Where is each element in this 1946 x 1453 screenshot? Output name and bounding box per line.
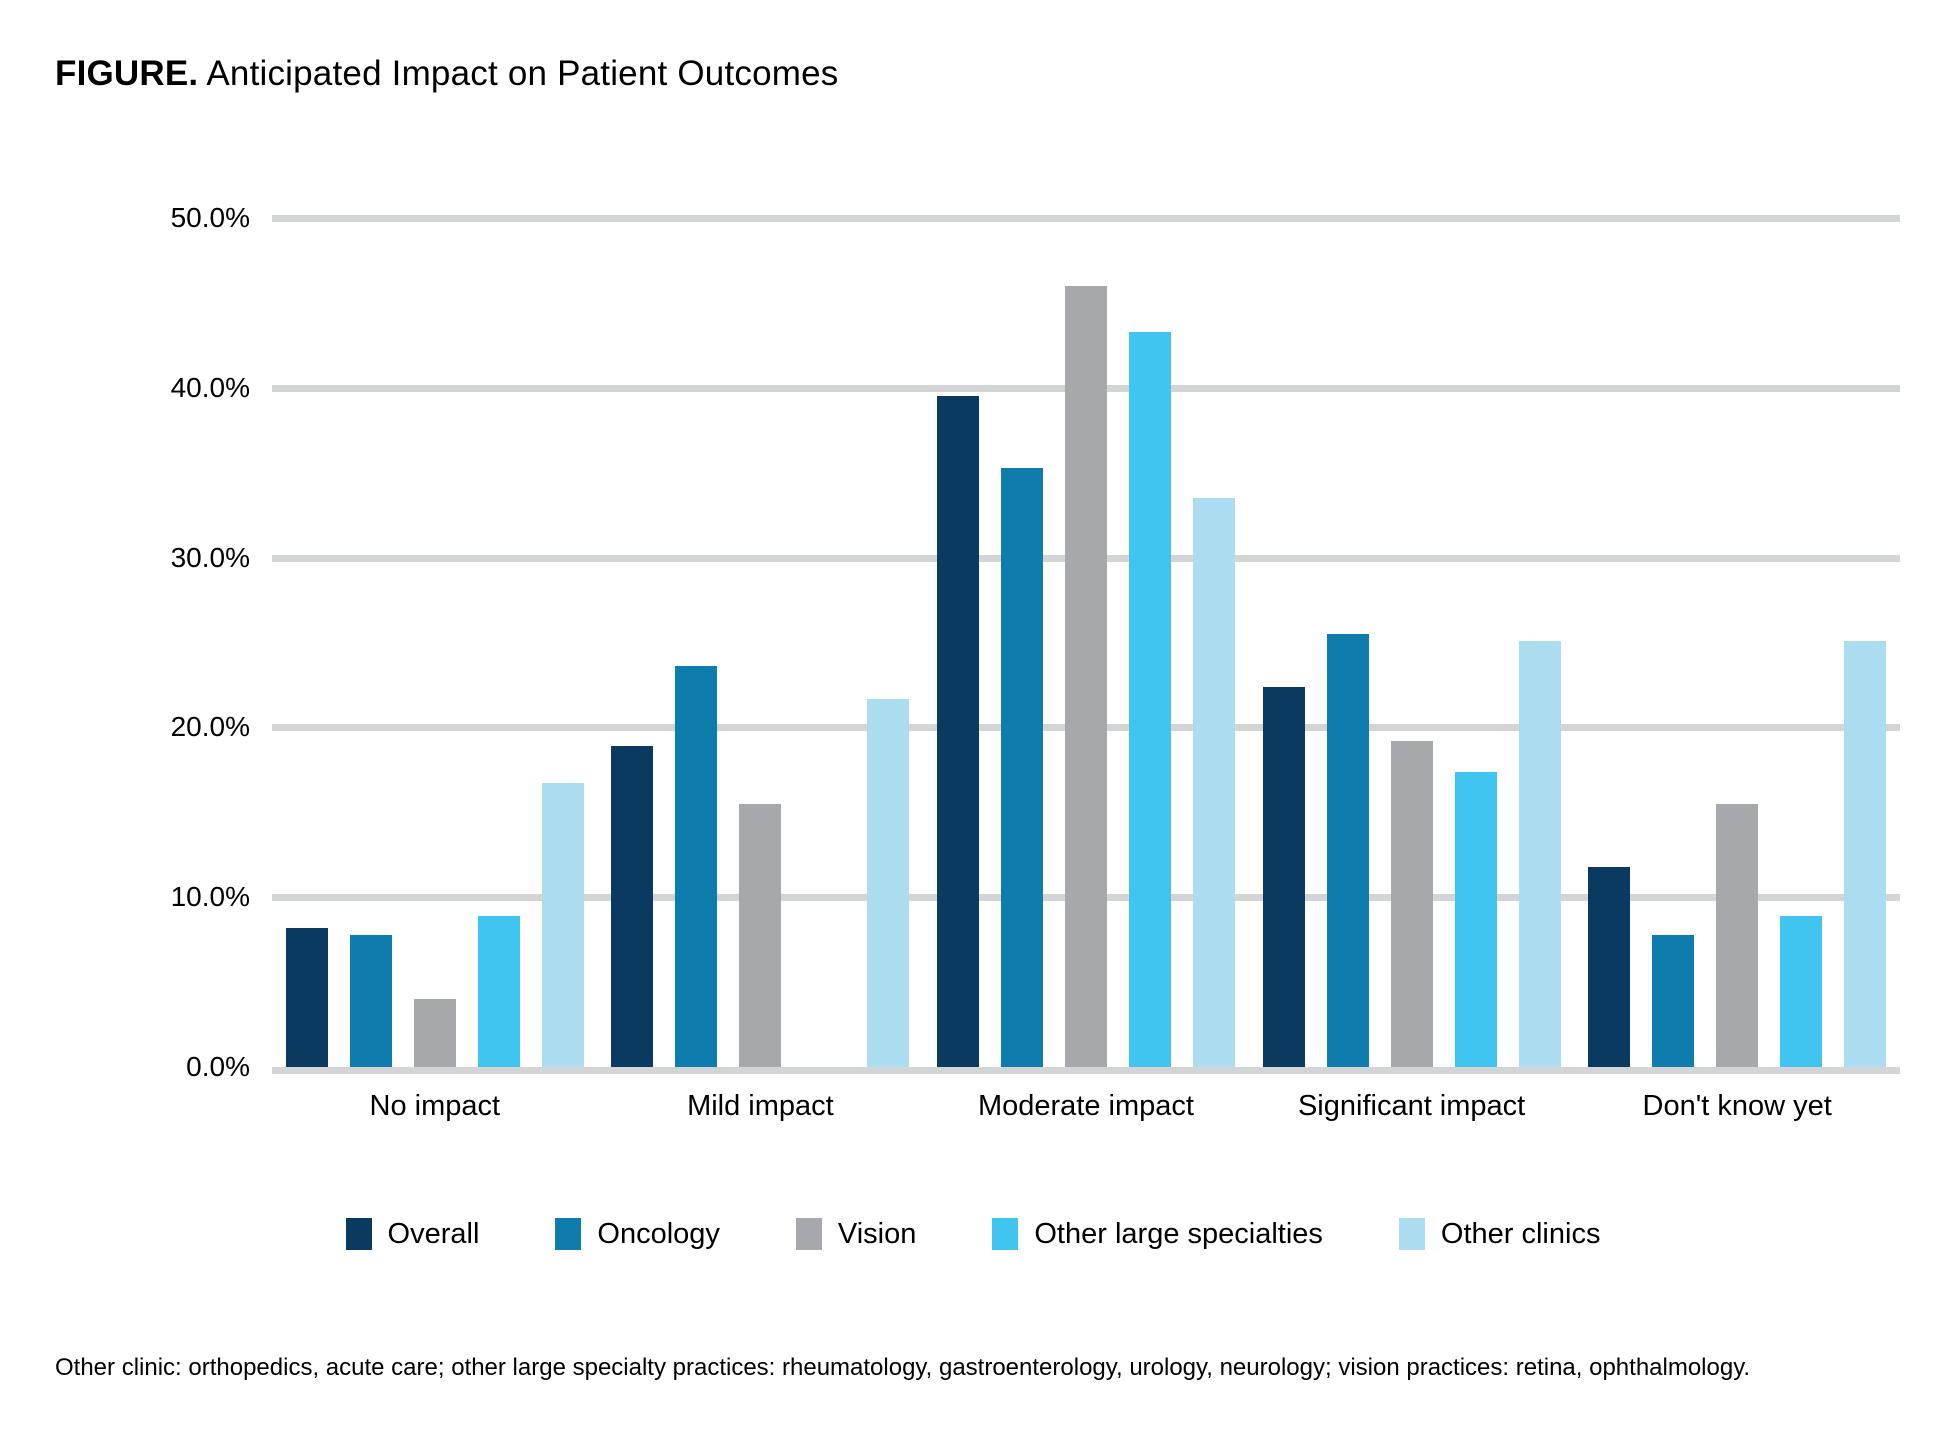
bar[interactable]	[1263, 687, 1305, 1067]
bar-chart: % of survey respondents 50.0%40.0%30.0%2…	[0, 0, 1946, 1453]
x-axis-tick-label: Significant impact	[1249, 1089, 1575, 1123]
chart-legend: OverallOncologyVisionOther large special…	[0, 1218, 1946, 1250]
bar-group-bars	[937, 218, 1235, 1067]
legend-swatch-icon	[1399, 1218, 1425, 1250]
bar[interactable]	[542, 783, 584, 1067]
plot-region	[272, 218, 1900, 1067]
legend-label: Vision	[838, 1218, 916, 1250]
legend-item[interactable]: Overall	[346, 1218, 480, 1250]
x-axis-line	[272, 1067, 1900, 1074]
y-axis-tick-label: 30.0%	[90, 544, 250, 572]
bar-group	[286, 218, 584, 1067]
bar[interactable]	[350, 935, 392, 1067]
bar[interactable]	[1588, 867, 1630, 1067]
legend-swatch-icon	[992, 1218, 1018, 1250]
legend-swatch-icon	[346, 1218, 372, 1250]
legend-label: Other large specialties	[1034, 1218, 1323, 1250]
bar[interactable]	[867, 699, 909, 1067]
footnote: Other clinic: orthopedics, acute care; o…	[55, 1353, 1750, 1383]
bar[interactable]	[1327, 634, 1369, 1067]
bar[interactable]	[1129, 332, 1171, 1067]
bar[interactable]	[1844, 641, 1886, 1067]
y-axis-tick-label: 20.0%	[90, 713, 250, 741]
legend-swatch-icon	[796, 1218, 822, 1250]
legend-label: Oncology	[597, 1218, 720, 1250]
bar-group	[611, 218, 909, 1067]
x-axis-tick-label: Moderate impact	[923, 1089, 1249, 1123]
bar[interactable]	[1652, 935, 1694, 1067]
y-axis-tick-label: 10.0%	[90, 883, 250, 911]
bar[interactable]	[414, 999, 456, 1067]
y-axis-tick-label: 50.0%	[90, 204, 250, 232]
bar[interactable]	[1780, 916, 1822, 1067]
y-axis-tick-label: 0.0%	[90, 1053, 250, 1081]
bar[interactable]	[1455, 772, 1497, 1067]
bar[interactable]	[1716, 804, 1758, 1067]
bar-group	[1263, 218, 1561, 1067]
bar[interactable]	[1193, 498, 1235, 1067]
y-axis-tick-label: 40.0%	[90, 374, 250, 402]
x-axis-tick-label: Mild impact	[598, 1089, 924, 1123]
bar[interactable]	[675, 666, 717, 1067]
bar[interactable]	[1391, 741, 1433, 1067]
bar[interactable]	[1001, 468, 1043, 1067]
bar-group-bars	[286, 218, 584, 1067]
legend-item[interactable]: Oncology	[555, 1218, 720, 1250]
bar[interactable]	[937, 396, 979, 1067]
legend-label: Other clinics	[1441, 1218, 1601, 1250]
bar[interactable]	[286, 928, 328, 1067]
bar[interactable]	[1519, 641, 1561, 1067]
legend-item[interactable]: Vision	[796, 1218, 916, 1250]
bar-group-bars	[611, 218, 909, 1067]
bar-group	[937, 218, 1235, 1067]
bar-group-bars	[1588, 218, 1886, 1067]
bar-group	[1588, 218, 1886, 1067]
bar[interactable]	[478, 916, 520, 1067]
x-axis-tick-label: Don't know yet	[1574, 1089, 1900, 1123]
bar[interactable]	[1065, 286, 1107, 1067]
legend-label: Overall	[388, 1218, 480, 1250]
legend-item[interactable]: Other clinics	[1399, 1218, 1601, 1250]
legend-item[interactable]: Other large specialties	[992, 1218, 1323, 1250]
bar[interactable]	[611, 746, 653, 1067]
bar[interactable]	[739, 804, 781, 1067]
bar-group-bars	[1263, 218, 1561, 1067]
legend-swatch-icon	[555, 1218, 581, 1250]
x-axis-tick-label: No impact	[272, 1089, 598, 1123]
